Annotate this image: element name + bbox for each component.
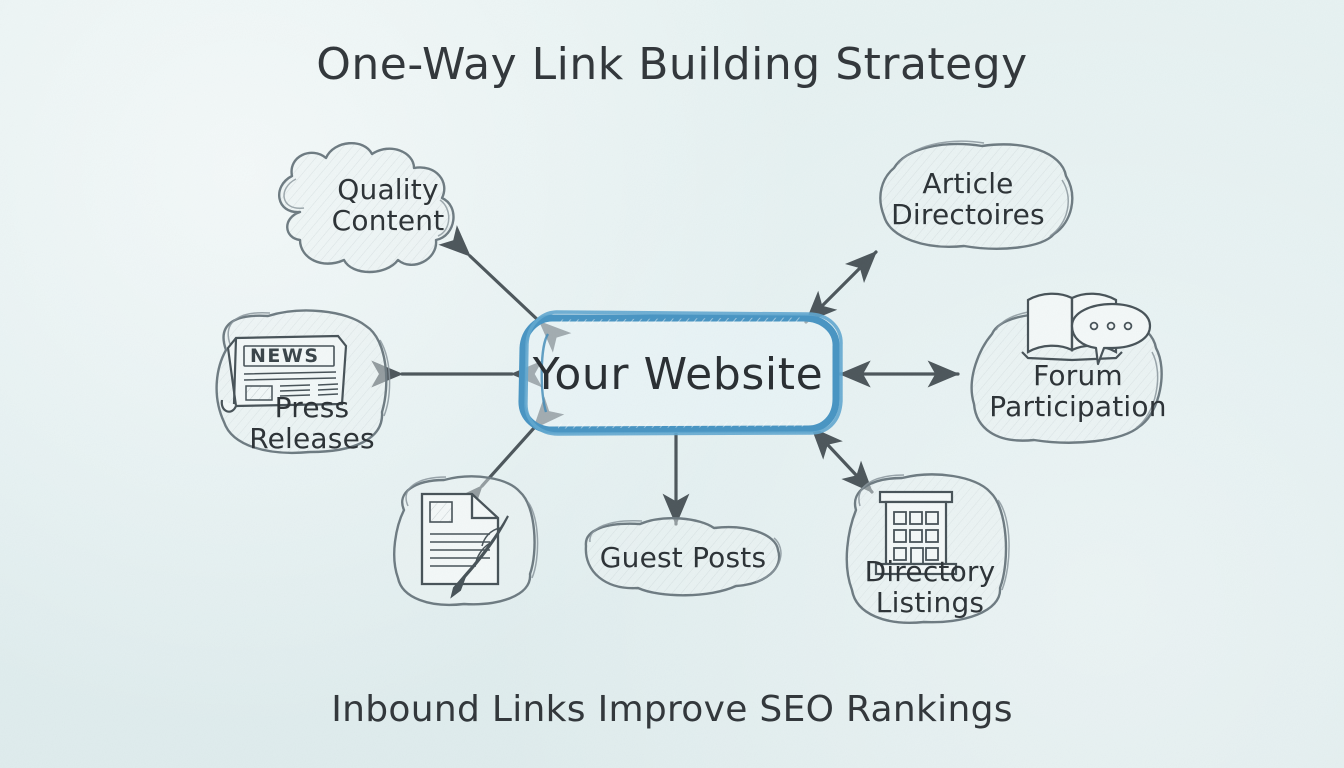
- page-caption: Inbound Links Improve SEO Rankings: [0, 690, 1344, 730]
- node-blog-writing[interactable]: [394, 476, 537, 604]
- arrow-article-directoires: [806, 252, 876, 322]
- page-title: One-Way Link Building Strategy: [0, 40, 1344, 89]
- node-label-quality-content: Quality Content: [300, 174, 476, 237]
- arrow-directory-listings: [812, 428, 872, 492]
- node-label-article-directoires: Article Directoires: [880, 168, 1056, 231]
- arrow-quality-content: [470, 256, 540, 322]
- node-label-directory-listings: Directory Listings: [850, 556, 1010, 619]
- node-label-press-releases: Press Releases: [224, 392, 400, 455]
- node-label-guest-posts: Guest Posts: [586, 542, 780, 573]
- center-node-label: Your Website: [522, 350, 834, 399]
- node-label-forum-participation: Forum Participation: [978, 360, 1178, 423]
- document-quill-icon: [422, 494, 498, 584]
- diagram-canvas: NEWS: [0, 0, 1344, 768]
- newspaper-icon-text: NEWS: [250, 345, 320, 367]
